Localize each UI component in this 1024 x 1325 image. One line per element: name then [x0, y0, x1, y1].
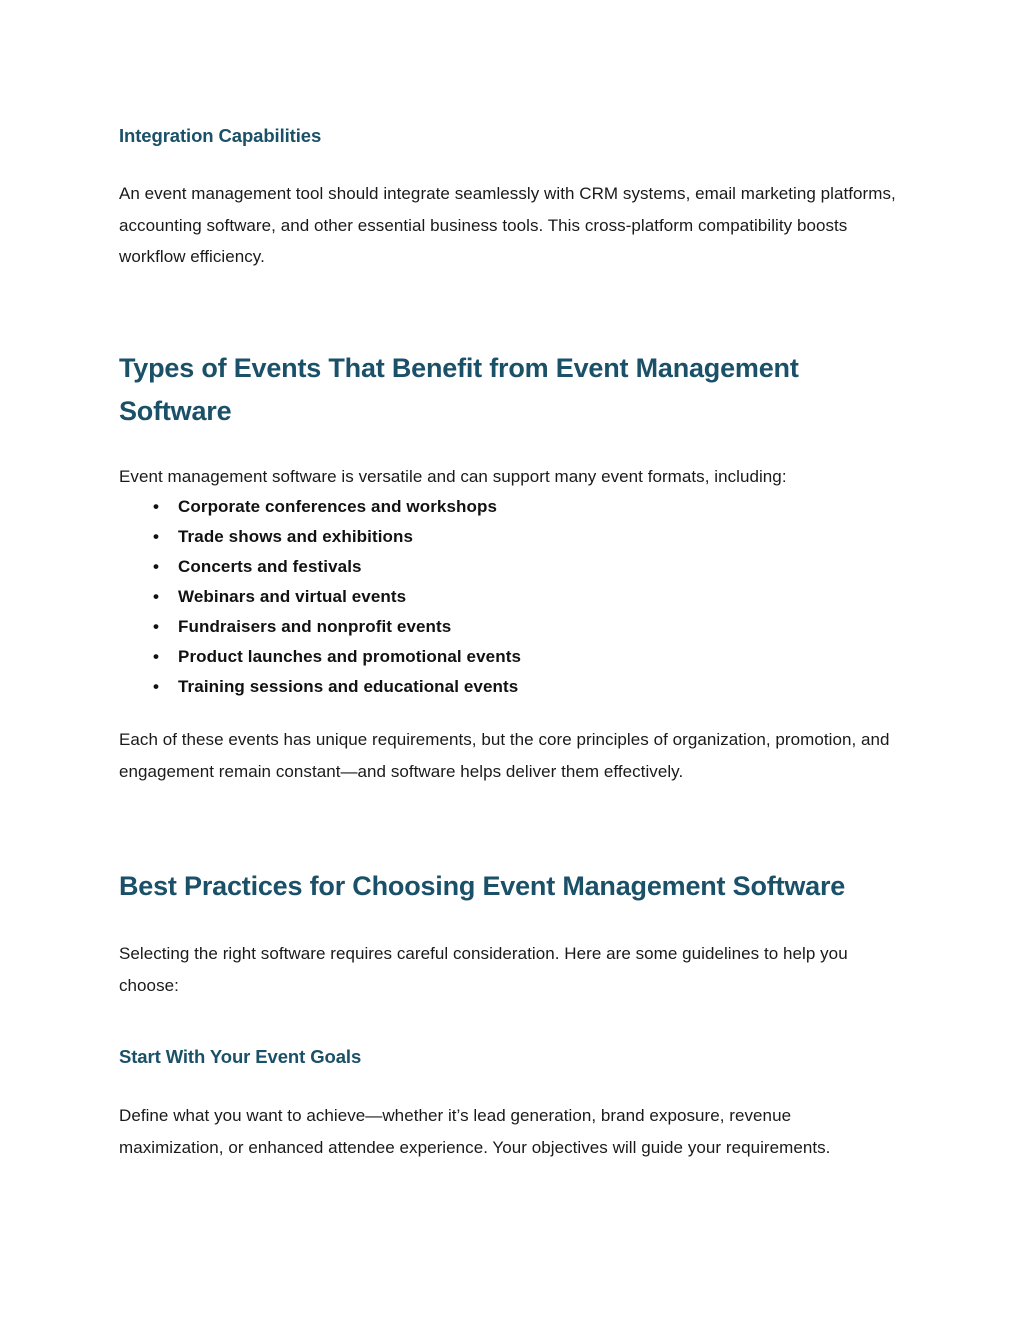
- list-item-label: Concerts and festivals: [178, 557, 362, 576]
- list-item: • Fundraisers and nonprofit events: [119, 612, 899, 642]
- heading-best-practices: Best Practices for Choosing Event Manage…: [119, 865, 899, 908]
- list-item-label: Training sessions and educational events: [178, 677, 518, 696]
- heading-integration-capabilities: Integration Capabilities: [119, 124, 899, 148]
- bullet-icon: •: [153, 612, 159, 642]
- paragraph-event-goals: Define what you want to achieve—whether …: [119, 1100, 899, 1163]
- bullet-icon: •: [153, 522, 159, 552]
- paragraph-integration-capabilities: An event management tool should integrat…: [119, 178, 899, 273]
- bullet-icon: •: [153, 552, 159, 582]
- list-item: • Webinars and virtual events: [119, 582, 899, 612]
- paragraph-types-intro: Event management software is versatile a…: [119, 461, 899, 493]
- bullet-icon: •: [153, 492, 159, 522]
- bullet-icon: •: [153, 642, 159, 672]
- list-item: • Concerts and festivals: [119, 552, 899, 582]
- list-item: • Corporate conferences and workshops: [119, 492, 899, 522]
- list-item: • Trade shows and exhibitions: [119, 522, 899, 552]
- paragraph-types-closing: Each of these events has unique requirem…: [119, 724, 899, 787]
- event-types-list: • Corporate conferences and workshops • …: [119, 492, 899, 702]
- list-item: • Product launches and promotional event…: [119, 642, 899, 672]
- document-content-column: Integration Capabilities An event manage…: [119, 0, 899, 1163]
- paragraph-best-practices: Selecting the right software requires ca…: [119, 938, 899, 1001]
- heading-start-with-your-event-goals: Start With Your Event Goals: [119, 1045, 899, 1069]
- list-item-label: Product launches and promotional events: [178, 647, 521, 666]
- bullet-icon: •: [153, 672, 159, 702]
- list-item-label: Fundraisers and nonprofit events: [178, 617, 451, 636]
- list-item-label: Trade shows and exhibitions: [178, 527, 413, 546]
- document-page: Integration Capabilities An event manage…: [0, 0, 1024, 1325]
- list-item: • Training sessions and educational even…: [119, 672, 899, 702]
- list-item-label: Corporate conferences and workshops: [178, 497, 497, 516]
- bullet-icon: •: [153, 582, 159, 612]
- heading-types-of-events: Types of Events That Benefit from Event …: [119, 347, 899, 433]
- list-item-label: Webinars and virtual events: [178, 587, 406, 606]
